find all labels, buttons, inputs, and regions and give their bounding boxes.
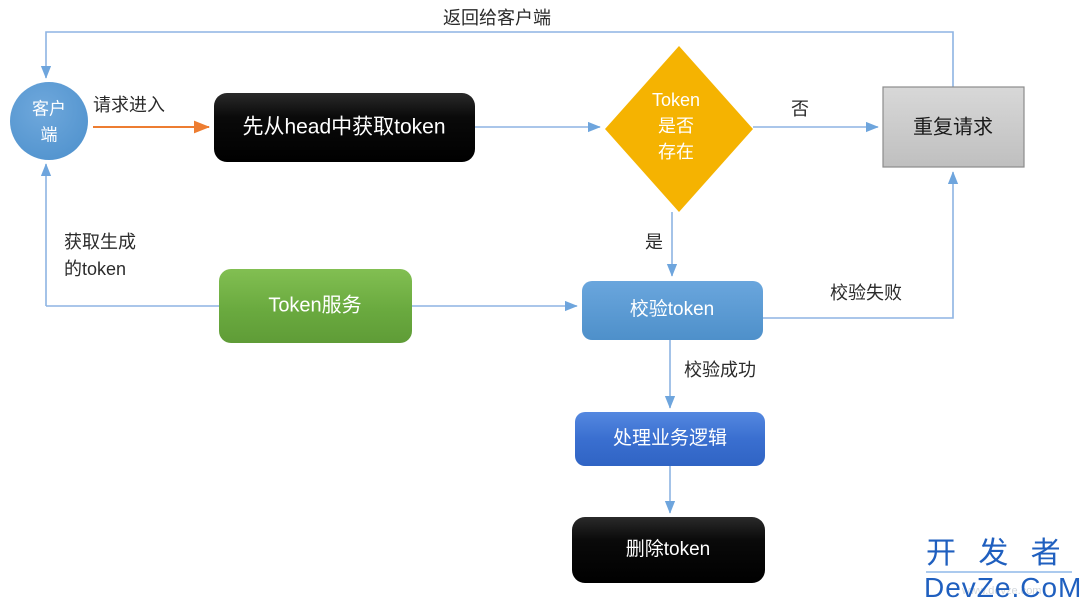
token-service-label: Token服务 — [268, 293, 361, 316]
node-get-token-from-head[interactable]: 先从head中获取token — [214, 93, 475, 162]
flowchart-svg: 客户 端 先从head中获取token Token 是否 存在 重复请求 Tok… — [0, 0, 1080, 610]
edge-label-fetch-generated-token-line2: 的token — [64, 259, 126, 279]
edge-label-fetch-generated-token-line1: 获取生成 — [64, 232, 136, 252]
node-token-service[interactable]: Token服务 — [219, 269, 412, 343]
node-verify-token[interactable]: 校验token — [582, 281, 763, 340]
node-delete-token[interactable]: 删除token — [572, 517, 765, 583]
token-exists-label-line1: Token — [652, 90, 700, 110]
node-process-business-logic[interactable]: 处理业务逻辑 — [575, 412, 765, 466]
verify-token-label: 校验token — [630, 298, 714, 320]
edge-label-yes: 是 — [645, 232, 663, 252]
client-label-line2: 端 — [41, 125, 58, 144]
node-token-exists-decision[interactable]: Token 是否 存在 — [605, 46, 753, 212]
node-repeat-request[interactable]: 重复请求 — [883, 87, 1024, 167]
watermark: 开 发 者 www.devze.com DevZe.CoM — [924, 537, 1080, 603]
edge-label-request-in: 请求进入 — [93, 95, 165, 115]
token-exists-label-line3: 存在 — [658, 142, 694, 162]
process-business-logic-label: 处理业务逻辑 — [613, 427, 727, 449]
node-client[interactable]: 客户 端 — [10, 82, 88, 160]
token-exists-label-line2: 是否 — [658, 116, 694, 136]
edge-label-no: 否 — [791, 99, 809, 119]
watermark-cn-text: 开 发 者 — [926, 537, 1068, 570]
watermark-en-text: DevZe.CoM — [924, 572, 1080, 603]
client-label-line1: 客户 — [32, 99, 66, 118]
edge-return-to-client — [46, 32, 953, 87]
client-circle-shape — [10, 82, 88, 160]
repeat-request-label: 重复请求 — [913, 115, 993, 138]
flowchart-canvas: 客户 端 先从head中获取token Token 是否 存在 重复请求 Tok… — [0, 0, 1080, 610]
get-token-from-head-label: 先从head中获取token — [242, 116, 445, 139]
edge-label-verify-failed: 校验失败 — [830, 283, 902, 303]
delete-token-label: 删除token — [626, 538, 710, 560]
edge-label-return-to-client: 返回给客户端 — [443, 8, 551, 28]
edge-label-verify-success: 校验成功 — [684, 360, 756, 380]
